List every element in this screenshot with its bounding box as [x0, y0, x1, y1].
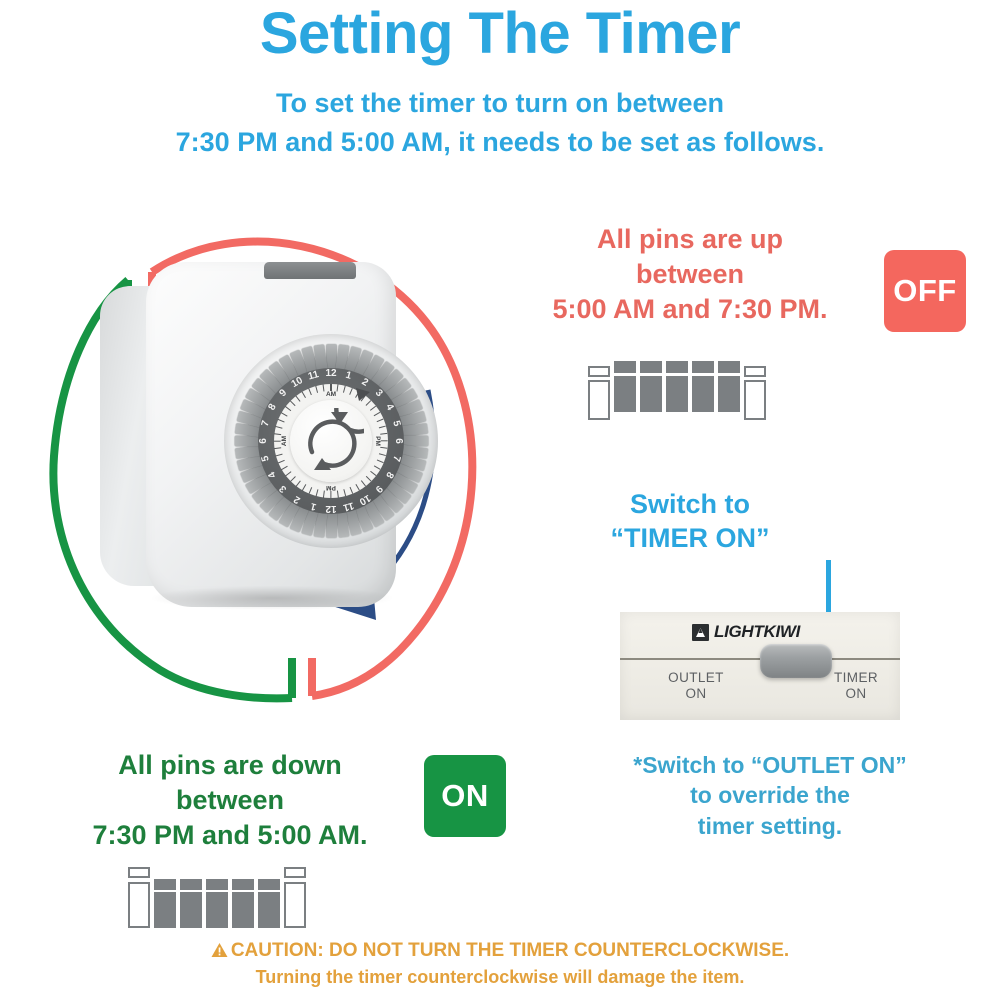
pins-down-icon — [128, 862, 306, 928]
pin-body — [232, 892, 254, 928]
switch-note-line-3: timer setting. — [600, 811, 940, 841]
switch-label-timer-on: TIMER ON — [816, 670, 896, 701]
switch-callout-heading: Switch to “TIMER ON” — [560, 488, 820, 556]
infographic-page: Setting The Timer To set the timer to tu… — [0, 0, 1000, 1000]
timer-switch-photo[interactable]: LIGHTKIWI OUTLET ON TIMER ON — [620, 612, 900, 720]
pin-body — [154, 892, 176, 928]
dial-hour-number: 7 — [259, 415, 273, 431]
caution-line-2: Turning the timer counterclockwise will … — [0, 965, 1000, 991]
dial-minute-tick — [276, 453, 283, 456]
dial-minute-tick — [355, 484, 360, 491]
dial-ampm-label: PM — [323, 484, 339, 491]
outlet-label-line-2: ON — [644, 686, 748, 702]
dial-minute-tick — [377, 459, 384, 463]
dial-minute-tick — [379, 426, 386, 429]
lightkiwi-mark-icon — [692, 624, 709, 641]
page-title: Setting The Timer — [0, 4, 1000, 65]
pin-outline — [284, 867, 306, 928]
device-front-face: 121234567891011121234567891011 AMPMPMAM — [146, 262, 396, 607]
dial-minute-tick — [302, 484, 307, 491]
dial-minute-tick — [370, 406, 376, 411]
dial-minute-tick — [380, 433, 387, 435]
pin-body — [258, 892, 280, 928]
pin-filled — [154, 879, 176, 928]
pin-body — [640, 376, 662, 412]
caution-line-1: CAUTION: DO NOT TURN THE TIMER COUNTERCL… — [0, 938, 1000, 965]
dial-minute-tick — [278, 459, 285, 463]
device-shadow — [152, 586, 392, 610]
pin-head — [718, 361, 740, 373]
pin-outline — [128, 867, 150, 928]
dial-minute-tick — [361, 480, 366, 486]
pin-head — [154, 879, 176, 890]
dial-minute-tick — [290, 400, 296, 406]
caution-note: CAUTION: DO NOT TURN THE TIMER COUNTERCL… — [0, 938, 1000, 991]
timer-device-photo: 121234567891011121234567891011 AMPMPMAM — [100, 252, 400, 612]
pin-head — [258, 879, 280, 890]
pin-head — [180, 879, 202, 890]
pin-filled — [640, 361, 662, 412]
pin-body — [128, 882, 150, 928]
pin-head — [128, 867, 150, 878]
pins-down-line-1: All pins are down — [50, 748, 410, 783]
dial-hour-number: 12 — [324, 503, 338, 514]
dial-minute-tick — [379, 453, 386, 456]
dial-minute-tick — [296, 480, 301, 486]
switch-note-line-1: *Switch to “OUTLET ON” — [600, 750, 940, 780]
warning-triangle-icon — [211, 942, 228, 958]
dial-ampm-label: PM — [374, 433, 381, 449]
dial-minute-tick — [278, 419, 285, 423]
dial-minute-tick — [349, 388, 353, 395]
pin-outline — [744, 366, 766, 420]
device-top-tab — [264, 262, 356, 279]
circular-arrow-icon — [298, 408, 364, 474]
dial-minute-tick — [330, 384, 331, 391]
brand-name: LIGHTKIWI — [714, 622, 800, 642]
subtitle-line-1: To set the timer to turn on between — [0, 84, 1000, 123]
switch-label-outlet-on: OUTLET ON — [644, 670, 748, 701]
pin-head — [692, 361, 714, 373]
pin-head — [588, 366, 610, 377]
dial-hour-number: 12 — [324, 368, 338, 379]
pin-head — [666, 361, 688, 373]
dial-minute-tick — [281, 412, 288, 417]
pins-up-line-2: between — [520, 257, 860, 292]
pin-body — [692, 376, 714, 412]
dial-minute-tick — [274, 440, 281, 441]
dial-hour-number: 5 — [259, 450, 273, 466]
outlet-label-line-1: OUTLET — [644, 670, 748, 686]
dial-minute-tick — [374, 412, 381, 417]
timer-illustration: 121234567891011121234567891011 AMPMPMAM — [40, 180, 510, 720]
pin-head — [614, 361, 636, 373]
pin-head — [206, 879, 228, 890]
pin-filled — [614, 361, 636, 412]
dial-minute-tick — [381, 440, 388, 441]
pin-body — [206, 892, 228, 928]
dial-minute-tick — [343, 386, 346, 393]
dial-minute-tick — [276, 426, 283, 429]
caution-text-1: CAUTION: DO NOT TURN THE TIMER COUNTERCL… — [231, 940, 789, 961]
dial-hour-number: 11 — [305, 369, 321, 383]
pins-down-line-2: between — [50, 783, 410, 818]
dial-hour-number: 6 — [258, 434, 269, 448]
pin-head — [640, 361, 662, 373]
dial-minute-tick — [349, 487, 353, 494]
dial-minute-tick — [330, 491, 331, 498]
pin-body — [718, 376, 740, 412]
switch-note-line-2: to override the — [600, 780, 940, 810]
dial-minute-tick — [290, 476, 296, 482]
pins-up-callout: All pins are up between 5:00 AM and 7:30… — [520, 222, 860, 327]
dial-minute-tick — [296, 395, 301, 401]
dial-minute-tick — [377, 419, 384, 423]
pins-down-callout: All pins are down between 7:30 PM and 5:… — [50, 748, 410, 853]
pin-filled — [232, 879, 254, 928]
pin-head — [284, 867, 306, 878]
pin-head — [232, 879, 254, 890]
dial-minute-tick — [281, 465, 288, 470]
timer-label-line-1: TIMER — [816, 670, 896, 686]
pin-filled — [666, 361, 688, 412]
dial-pointer-icon — [354, 386, 372, 404]
switch-head-line-1: Switch to — [560, 488, 820, 522]
dial-hour-number: 1 — [340, 369, 356, 383]
timer-dial[interactable]: 121234567891011121234567891011 AMPMPMAM — [224, 334, 438, 548]
subtitle-line-2: 7:30 PM and 5:00 AM, it needs to be set … — [0, 123, 1000, 162]
dial-minute-tick — [285, 471, 291, 476]
pins-up-icon — [588, 358, 766, 420]
page-subtitle: To set the timer to turn on between 7:30… — [0, 84, 1000, 162]
dial-minute-tick — [309, 487, 313, 494]
status-badge-on: ON — [424, 755, 506, 837]
dial-minute-tick — [380, 447, 387, 449]
brand-logo: LIGHTKIWI — [692, 622, 800, 642]
pins-up-line-1: All pins are up — [520, 222, 860, 257]
pin-filled — [692, 361, 714, 412]
dial-minute-tick — [285, 406, 291, 411]
dial-minute-tick — [374, 465, 381, 470]
pin-body — [588, 380, 610, 420]
pin-body — [180, 892, 202, 928]
pin-body — [614, 376, 636, 412]
timer-label-line-2: ON — [816, 686, 896, 702]
pins-down-line-3: 7:30 PM and 5:00 AM. — [50, 818, 410, 853]
pin-outline — [588, 366, 610, 420]
dial-center-hub[interactable] — [290, 400, 372, 482]
dial-minute-tick — [316, 489, 319, 496]
status-badge-off: OFF — [884, 250, 966, 332]
dial-ampm-label: AM — [323, 391, 339, 398]
dial-minute-tick — [343, 489, 346, 496]
dial-minute-tick — [337, 490, 339, 497]
pin-head — [744, 366, 766, 377]
switch-head-line-2: “TIMER ON” — [560, 522, 820, 556]
dial-minute-tick — [302, 391, 307, 398]
pin-body — [284, 882, 306, 928]
pin-filled — [258, 879, 280, 928]
dial-minute-tick — [316, 386, 319, 393]
pin-body — [744, 380, 766, 420]
pin-body — [666, 376, 688, 412]
pin-filled — [718, 361, 740, 412]
dial-minute-tick — [323, 490, 325, 497]
pin-filled — [180, 879, 202, 928]
dial-ampm-label: AM — [281, 433, 288, 449]
pin-filled — [206, 879, 228, 928]
pins-up-line-3: 5:00 AM and 7:30 PM. — [520, 292, 860, 327]
switch-override-note: *Switch to “OUTLET ON” to override the t… — [600, 750, 940, 841]
dial-minute-tick — [309, 388, 313, 395]
dial-hour-number: 6 — [393, 434, 404, 448]
dial-minute-tick — [370, 471, 376, 476]
dial-minute-tick — [366, 476, 372, 482]
